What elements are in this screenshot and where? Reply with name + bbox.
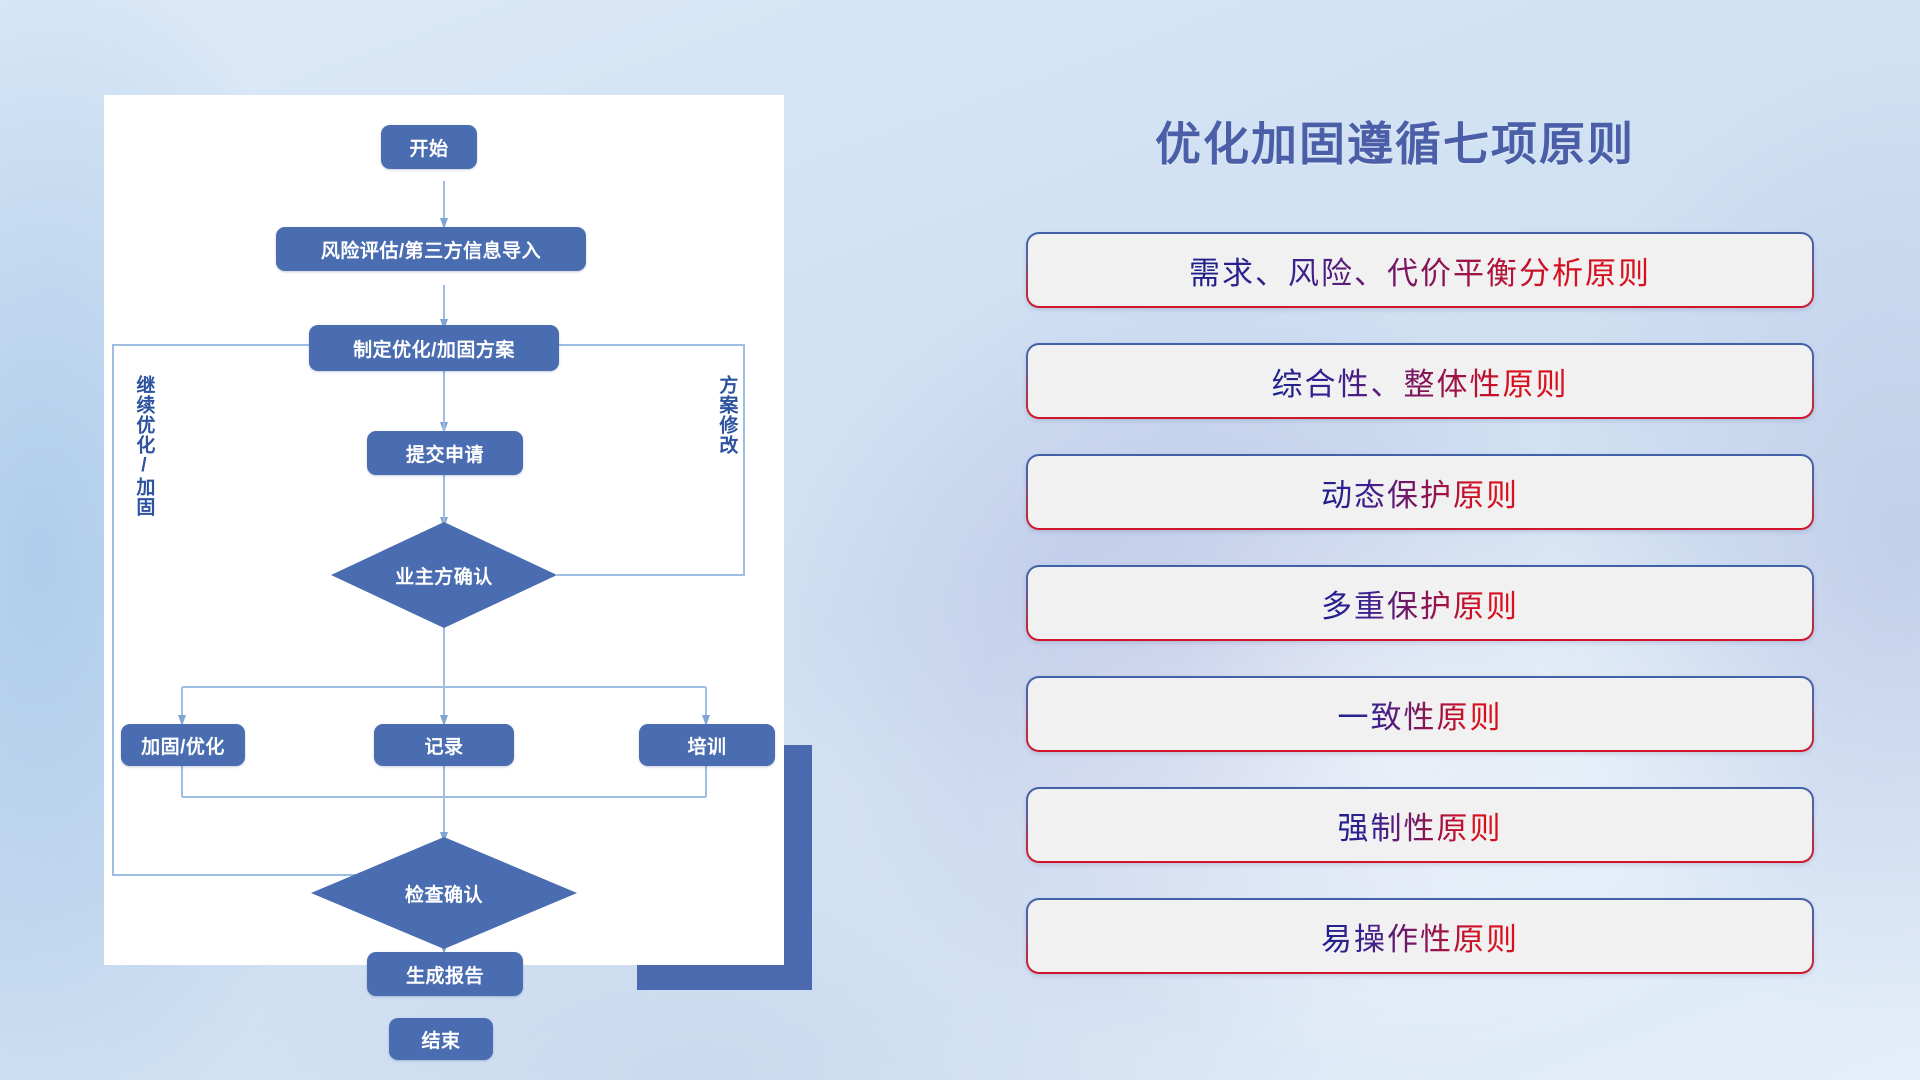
node-generate-report-label: 生成报告 xyxy=(406,961,484,988)
node-reinforce-optimize[interactable]: 加固/优化 xyxy=(121,724,245,766)
principle-card-2-label: 综合性、整体性原则 xyxy=(1272,359,1569,404)
flowchart-connectors xyxy=(104,95,784,965)
principle-card-2-body: 综合性、整体性原则 xyxy=(1028,345,1812,417)
node-end-label: 结束 xyxy=(421,1026,460,1053)
node-reinforce-optimize-label: 加固/优化 xyxy=(141,732,225,759)
page-title: 优化加固遵循七项原则 xyxy=(1155,108,1635,174)
node-make-plan-label: 制定优化/加固方案 xyxy=(353,335,515,362)
principle-card-7[interactable]: 易操作性原则 xyxy=(1026,898,1814,974)
decision-check-confirm-label: 检查确认 xyxy=(311,873,577,913)
node-submit-application-label: 提交申请 xyxy=(406,440,484,467)
slide-canvas: 开始 风险评估/第三方信息导入 制定优化/加固方案 提交申请 加固/优化 记录 … xyxy=(0,0,1920,1080)
node-record-label: 记录 xyxy=(424,732,463,759)
principle-card-6-body: 强制性原则 xyxy=(1028,789,1812,861)
node-risk-assessment[interactable]: 风险评估/第三方信息导入 xyxy=(276,227,586,271)
principle-card-1-body: 需求、风险、代价平衡分析原则 xyxy=(1028,234,1812,306)
principle-card-4-body: 多重保护原则 xyxy=(1028,567,1812,639)
node-training[interactable]: 培训 xyxy=(639,724,775,766)
edge-label-plan-revise: 方案修改 xyxy=(717,375,736,505)
principle-card-5[interactable]: 一致性原则 xyxy=(1026,676,1814,752)
principle-card-2[interactable]: 综合性、整体性原则 xyxy=(1026,343,1814,419)
node-submit-application[interactable]: 提交申请 xyxy=(367,431,523,475)
flowchart: 开始 风险评估/第三方信息导入 制定优化/加固方案 提交申请 加固/优化 记录 … xyxy=(104,95,784,965)
principle-card-3-label: 动态保护原则 xyxy=(1321,470,1519,515)
principle-card-1[interactable]: 需求、风险、代价平衡分析原则 xyxy=(1026,232,1814,308)
principle-card-1-label: 需求、风险、代价平衡分析原则 xyxy=(1189,248,1651,293)
principles-list: 需求、风险、代价平衡分析原则 综合性、整体性原则 动态保护原则 多重保护原则 一… xyxy=(1026,232,1814,1009)
principle-card-5-body: 一致性原则 xyxy=(1028,678,1812,750)
principle-card-4[interactable]: 多重保护原则 xyxy=(1026,565,1814,641)
node-risk-assessment-label: 风险评估/第三方信息导入 xyxy=(321,236,541,263)
principle-card-6-label: 强制性原则 xyxy=(1338,803,1503,848)
principle-card-3[interactable]: 动态保护原则 xyxy=(1026,454,1814,530)
principle-card-7-label: 易操作性原则 xyxy=(1321,914,1519,959)
node-generate-report[interactable]: 生成报告 xyxy=(367,952,523,996)
edge-label-continue-optimize: 继续优化/加固 xyxy=(134,375,153,565)
node-record[interactable]: 记录 xyxy=(374,724,514,766)
node-start-label: 开始 xyxy=(409,134,448,161)
principle-card-5-label: 一致性原则 xyxy=(1338,692,1503,737)
node-make-plan[interactable]: 制定优化/加固方案 xyxy=(309,325,559,371)
principle-card-4-label: 多重保护原则 xyxy=(1321,581,1519,626)
node-start[interactable]: 开始 xyxy=(381,125,477,169)
node-training-label: 培训 xyxy=(687,732,726,759)
node-end[interactable]: 结束 xyxy=(389,1018,493,1060)
flowchart-panel: 开始 风险评估/第三方信息导入 制定优化/加固方案 提交申请 加固/优化 记录 … xyxy=(104,95,784,965)
principle-card-3-body: 动态保护原则 xyxy=(1028,456,1812,528)
principle-card-6[interactable]: 强制性原则 xyxy=(1026,787,1814,863)
decision-owner-confirm-label: 业主方确认 xyxy=(331,555,557,595)
principle-card-7-body: 易操作性原则 xyxy=(1028,900,1812,972)
